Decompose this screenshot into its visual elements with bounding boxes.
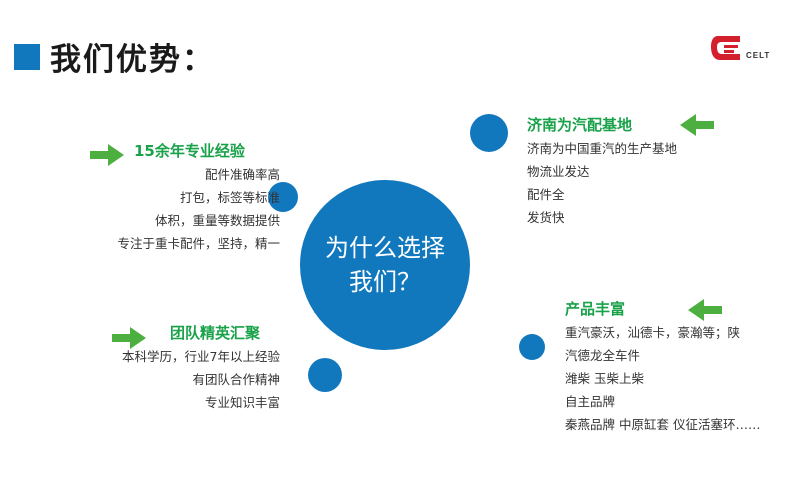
feature-line: 专业知识丰富 (60, 394, 280, 412)
page-title: 我们优势： (50, 34, 215, 79)
feature-title-base: 济南为汽配基地 (527, 114, 777, 135)
feature-line: 汽德龙全车件 (565, 347, 800, 365)
logo-mark-icon (710, 34, 748, 62)
feature-title-team: 团队精英汇聚 (170, 322, 280, 343)
connector-dot-bottom-left (308, 358, 342, 392)
header-square-marker (14, 44, 40, 70)
connector-dot-bottom-right (519, 334, 545, 360)
feature-line: 专注于重卡配件，坚持，精一 (60, 235, 280, 253)
feature-block-experience: 15余年专业经验 配件准确率高 打包，标签等标准 体积，重量等数据提供 专注于重… (60, 140, 280, 253)
feature-line: 重汽豪沃，汕德卡，豪瀚等；陕 (565, 324, 800, 342)
feature-line: 体积，重量等数据提供 (60, 212, 280, 230)
feature-line: 发货快 (527, 209, 777, 227)
feature-line: 物流业发达 (527, 163, 777, 181)
connector-dot-top-right (470, 114, 508, 152)
feature-line: 配件全 (527, 186, 777, 204)
feature-title-products: 产品丰富 (565, 298, 800, 319)
feature-line: 自主品牌 (565, 393, 800, 411)
feature-line: 济南为中国重汽的生产基地 (527, 140, 777, 158)
feature-block-base: 济南为汽配基地 济南为中国重汽的生产基地 物流业发达 配件全 发货快 (527, 114, 777, 227)
feature-block-products: 产品丰富 重汽豪沃，汕德卡，豪瀚等；陕 汽德龙全车件 潍柴 玉柴上柴 自主品牌 … (565, 298, 800, 434)
feature-line: 有团队合作精神 (60, 371, 280, 389)
feature-line: 潍柴 玉柴上柴 (565, 370, 800, 388)
slide-canvas: 我们优势： CELT 为什么选择我们？ 15余年专业经验 配件准确率高 打包，标… (0, 0, 800, 480)
center-label: 为什么选择我们？ (325, 231, 445, 299)
feature-line: 配件准确率高 (60, 166, 280, 184)
logo-text: CELT (746, 51, 770, 60)
feature-line: 本科学历，行业7年以上经验 (60, 348, 280, 366)
feature-block-team: 团队精英汇聚 本科学历，行业7年以上经验 有团队合作精神 专业知识丰富 (60, 322, 280, 412)
feature-line: 打包，标签等标准 (60, 189, 280, 207)
company-logo: CELT (710, 34, 784, 76)
feature-line: 秦燕品牌 中原缸套 仪征活塞环…… (565, 416, 800, 434)
feature-title-experience: 15余年专业经验 (134, 140, 280, 161)
center-circle: 为什么选择我们？ (300, 180, 470, 350)
